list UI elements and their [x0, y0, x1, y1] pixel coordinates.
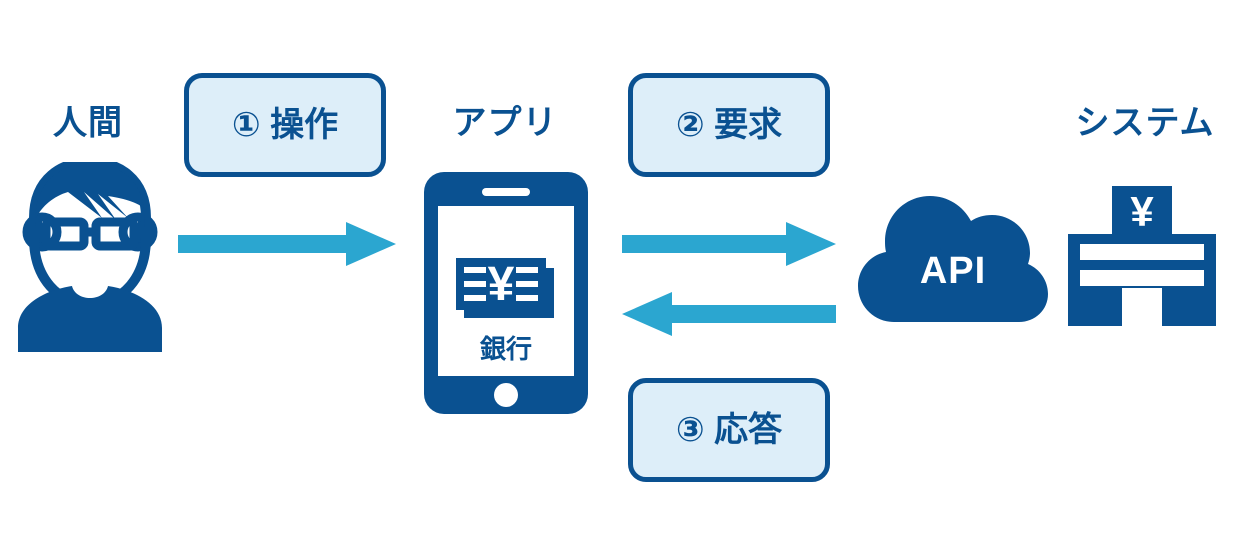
node-label-system: システム — [1055, 106, 1235, 140]
arrow-request-right-icon — [622, 222, 836, 271]
step-box-response[interactable]: ③ 応答 — [628, 378, 830, 482]
yen-symbol-icon: ¥ — [1130, 188, 1154, 235]
step-box-operate[interactable]: ① 操作 — [184, 73, 386, 177]
step-box-request-label: ② 要求 — [676, 108, 782, 142]
phone-screen-caption: 銀行 — [479, 334, 532, 364]
step-box-response-label: ③ 応答 — [676, 413, 782, 447]
arrow-operate-right-icon — [178, 222, 396, 271]
svg-text:¥: ¥ — [488, 258, 515, 311]
step-box-operate-label: ① 操作 — [232, 108, 338, 142]
cloud-icon — [858, 196, 1048, 327]
person-with-glasses-icon — [12, 162, 168, 357]
step-box-request[interactable]: ② 要求 — [628, 73, 830, 177]
smartphone-icon[interactable]: ¥ 銀行 — [420, 168, 592, 423]
bank-building-icon: ¥ — [1068, 186, 1216, 331]
diagram-canvas: 人間 ① 操作 アプリ — [0, 0, 1241, 535]
node-label-app: アプリ — [420, 106, 590, 140]
node-label-human: 人間 — [8, 106, 168, 140]
arrow-response-left-icon — [622, 292, 836, 341]
